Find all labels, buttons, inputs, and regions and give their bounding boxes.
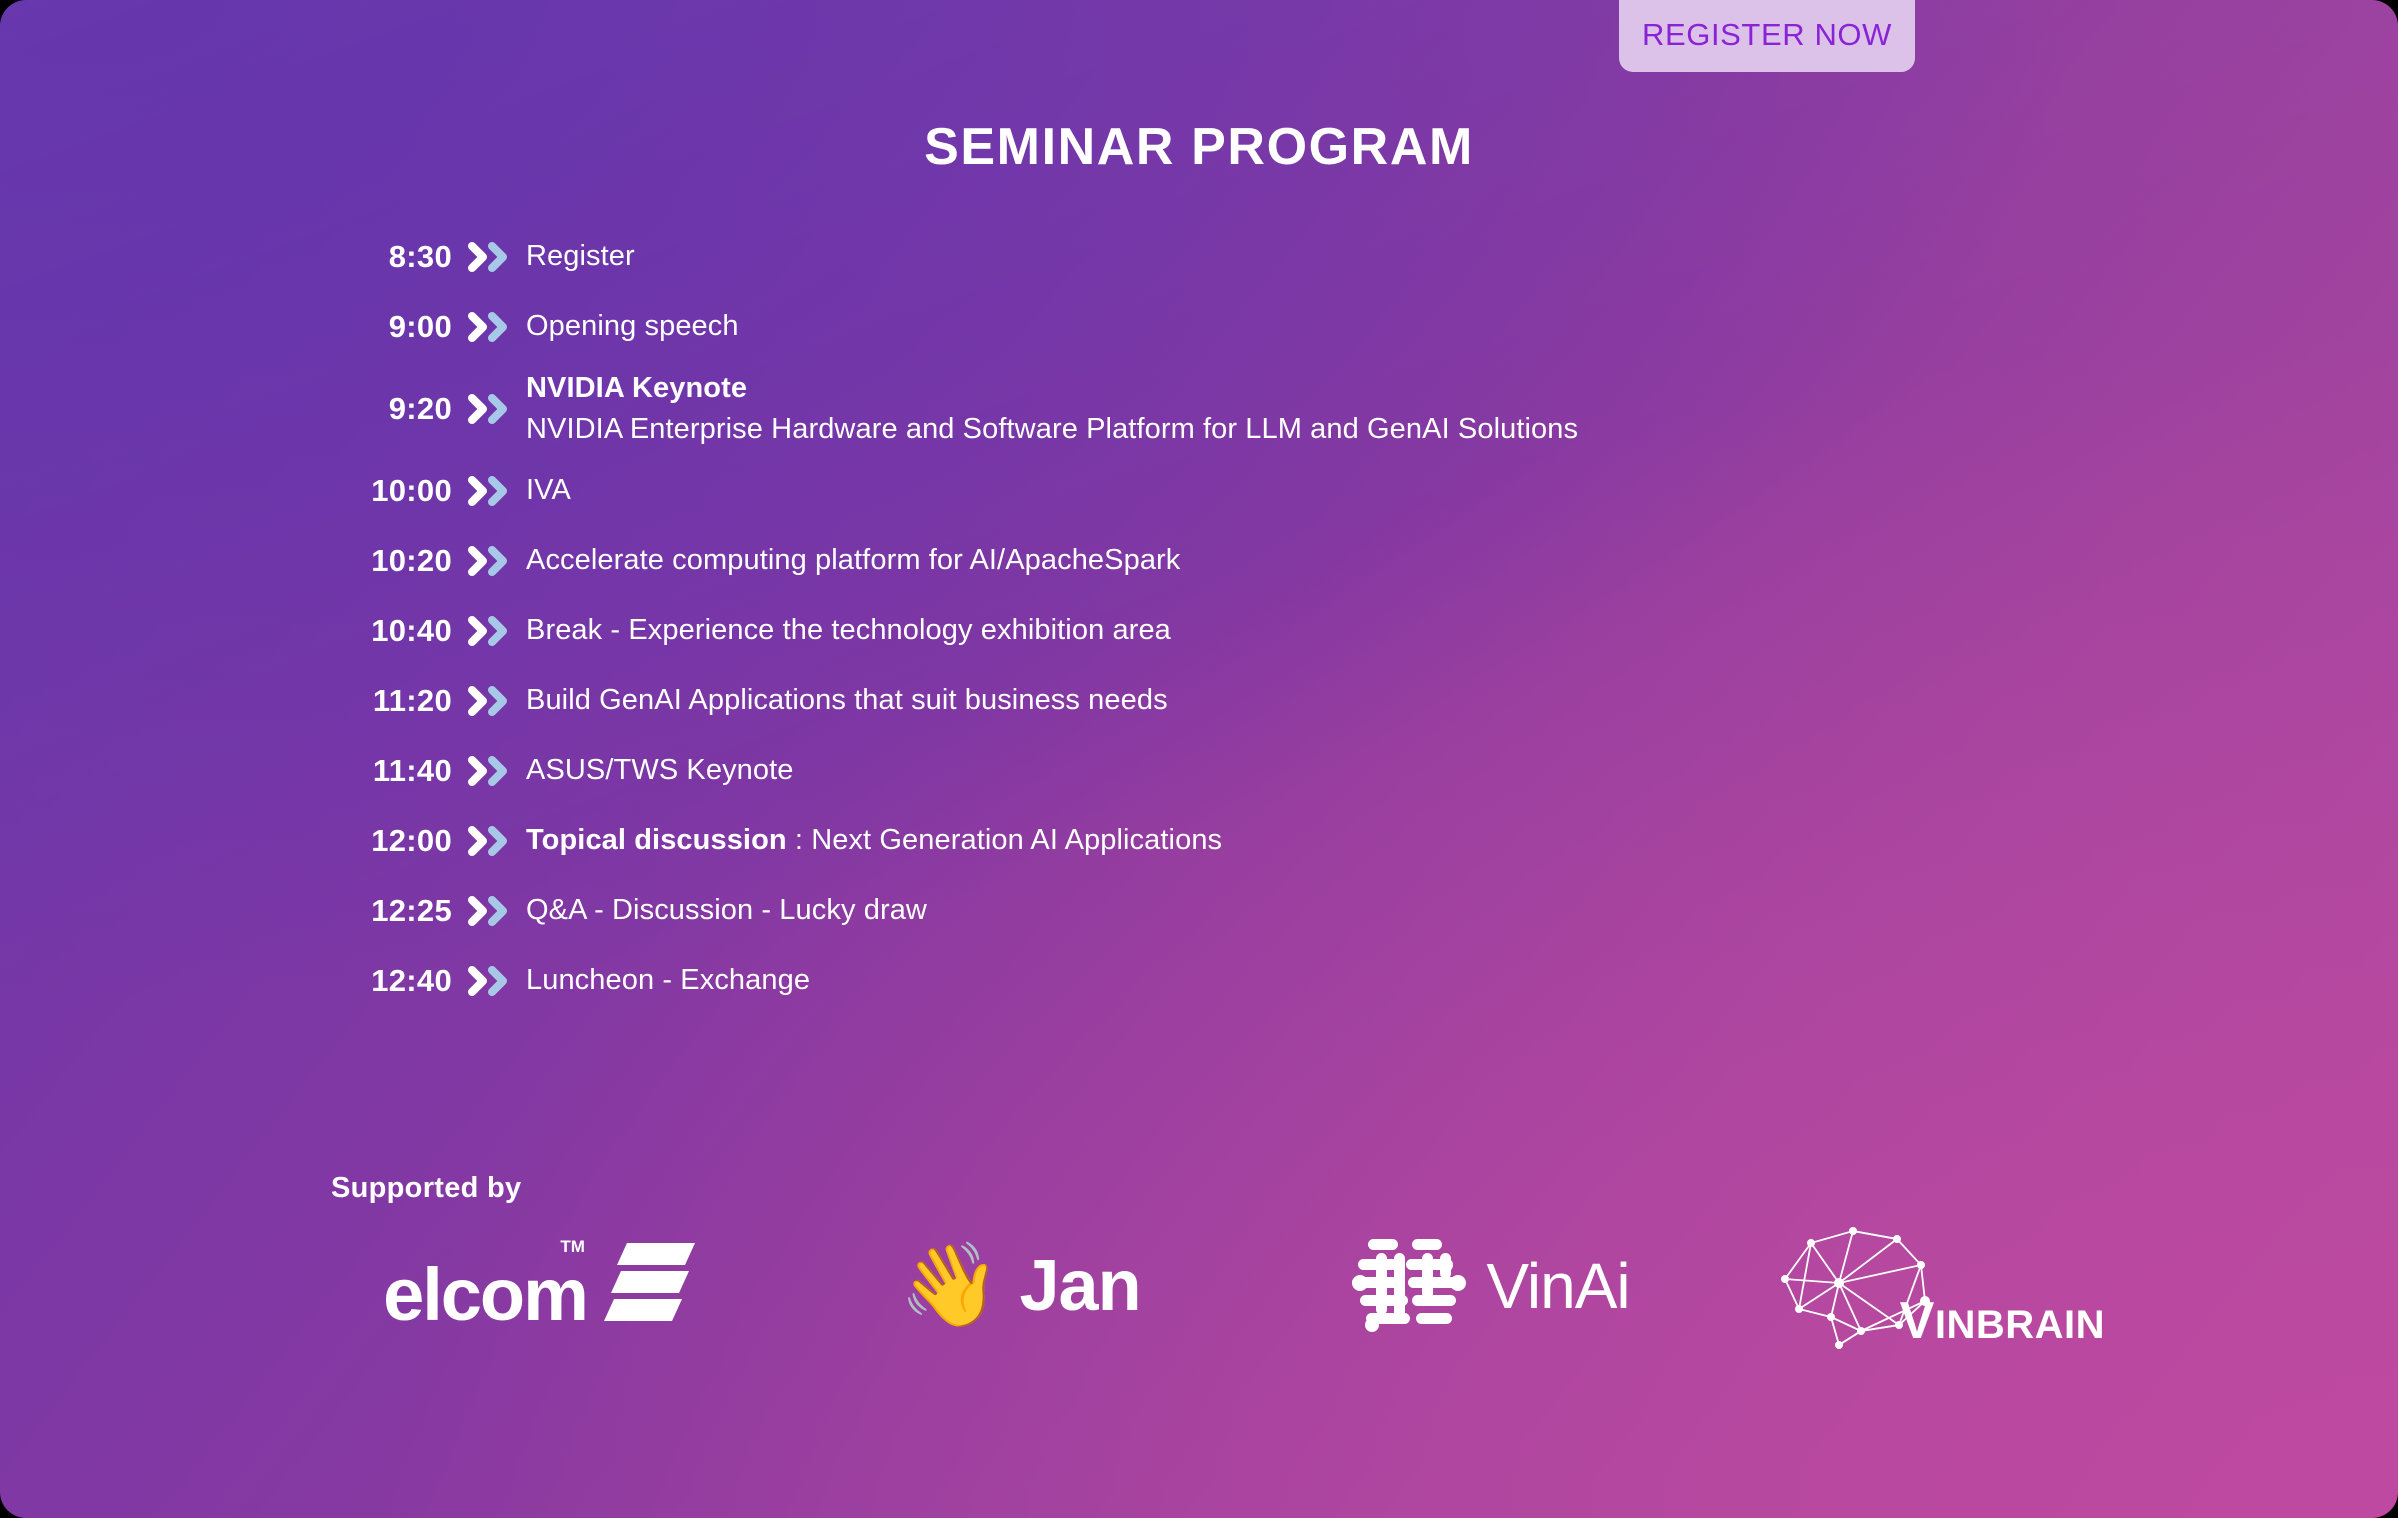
vinbrain-wordmark-rest: INBRAIN [1935, 1303, 2105, 1347]
schedule-row: 11:20 Build GenAI Applications that suit… [330, 666, 2130, 736]
session-title: Topical discussion [526, 824, 787, 856]
schedule-row: 11:40 ASUS/TWS Keynote [330, 736, 2130, 806]
session-title: NVIDIA Keynote [526, 368, 1578, 409]
sponsor-logo-elcom: elcom TM [300, 1216, 780, 1356]
schedule-row: 10:40 Break - Experience the technology … [330, 596, 2130, 666]
schedule-time: 9:00 [330, 309, 452, 345]
schedule-row: 10:00 IVA [330, 456, 2130, 526]
schedule-row: 8:30 Register [330, 222, 2130, 292]
schedule-session: Q&A - Discussion - Lucky draw [526, 890, 927, 931]
elcom-wordmark: elcom [383, 1258, 587, 1332]
session-text: Accelerate computing platform for AI/Apa… [526, 544, 1180, 576]
session-text: Build GenAI Applications that suit busin… [526, 684, 1168, 716]
session-text: IVA [526, 474, 571, 506]
schedule-time: 10:00 [330, 473, 452, 509]
schedule-row: 10:20 Accelerate computing platform for … [330, 526, 2130, 596]
sponsor-logo-vinai: VinAi [1260, 1216, 1720, 1356]
schedule-time: 11:40 [330, 753, 452, 789]
jan-wordmark: Jan [1020, 1250, 1141, 1322]
sponsor-logo-jan: 👋 Jan [780, 1216, 1260, 1356]
schedule-session: ASUS/TWS Keynote [526, 750, 794, 791]
session-text: Break - Experience the technology exhibi… [526, 614, 1171, 646]
session-text: : Next Generation AI Applications [787, 824, 1222, 856]
schedule-list: 8:30 Register 9:00 Opening speech 9:20 N… [330, 222, 2130, 1016]
session-text: ASUS/TWS Keynote [526, 754, 794, 786]
double-chevron-right-icon [452, 310, 526, 344]
schedule-time: 12:25 [330, 893, 452, 929]
seminar-program-slide: REGISTER NOW SEMINAR PROGRAM 8:30 Regist… [0, 0, 2398, 1518]
session-text: Opening speech [526, 310, 739, 342]
schedule-time: 10:20 [330, 543, 452, 579]
schedule-session: IVA [526, 470, 571, 511]
double-chevron-right-icon [452, 544, 526, 578]
schedule-session: Topical discussion : Next Generation AI … [526, 820, 1222, 861]
schedule-row: 12:00 Topical discussion : Next Generati… [330, 806, 2130, 876]
double-chevron-right-icon [452, 754, 526, 788]
double-chevron-right-icon [452, 614, 526, 648]
supported-by-label: Supported by [331, 1172, 522, 1205]
page-title: SEMINAR PROGRAM [0, 117, 2398, 177]
schedule-time: 9:20 [330, 391, 452, 427]
session-text: NVIDIA Enterprise Hardware and Software … [526, 409, 1578, 450]
sponsor-logo-vinbrain: VINBRAIN [1720, 1216, 2160, 1356]
schedule-time: 11:20 [330, 683, 452, 719]
schedule-time: 12:40 [330, 963, 452, 999]
double-chevron-right-icon [452, 894, 526, 928]
session-text: Q&A - Discussion - Lucky draw [526, 894, 927, 926]
schedule-session: Luncheon - Exchange [526, 960, 810, 1001]
schedule-row: 9:00 Opening speech [330, 292, 2130, 362]
session-text: Register [526, 240, 635, 272]
waving-hand-icon: 👋 [899, 1245, 1001, 1327]
double-chevron-right-icon [452, 684, 526, 718]
double-chevron-right-icon [452, 824, 526, 858]
double-chevron-right-icon [452, 240, 526, 274]
double-chevron-right-icon [452, 474, 526, 508]
vinai-network-mark-icon [1350, 1229, 1470, 1344]
schedule-time: 12:00 [330, 823, 452, 859]
schedule-session: Build GenAI Applications that suit busin… [526, 680, 1168, 721]
schedule-row: 12:40 Luncheon - Exchange [330, 946, 2130, 1016]
schedule-row: 9:20 NVIDIA Keynote NVIDIA Enterprise Ha… [330, 362, 2130, 456]
register-now-button[interactable]: REGISTER NOW [1619, 0, 1915, 72]
vinai-wordmark: VinAi [1486, 1254, 1629, 1318]
elcom-e-mark-icon [601, 1241, 697, 1328]
schedule-session: Opening speech [526, 306, 739, 347]
vinbrain-wordmark-cap: V [1900, 1292, 1935, 1350]
schedule-session: NVIDIA Keynote NVIDIA Enterprise Hardwar… [526, 368, 1578, 450]
schedule-time: 8:30 [330, 239, 452, 275]
vinbrain-wordmark: VINBRAIN [1900, 1295, 2105, 1347]
session-text: Luncheon - Exchange [526, 964, 810, 996]
double-chevron-right-icon [452, 392, 526, 426]
schedule-session: Register [526, 236, 635, 277]
double-chevron-right-icon [452, 964, 526, 998]
schedule-session: Accelerate computing platform for AI/Apa… [526, 540, 1180, 581]
elcom-trademark-icon: TM [560, 1237, 585, 1257]
schedule-time: 10:40 [330, 613, 452, 649]
sponsor-logos: elcom TM 👋 Jan [300, 1216, 2160, 1356]
schedule-row: 12:25 Q&A - Discussion - Lucky draw [330, 876, 2130, 946]
schedule-session: Break - Experience the technology exhibi… [526, 610, 1171, 651]
